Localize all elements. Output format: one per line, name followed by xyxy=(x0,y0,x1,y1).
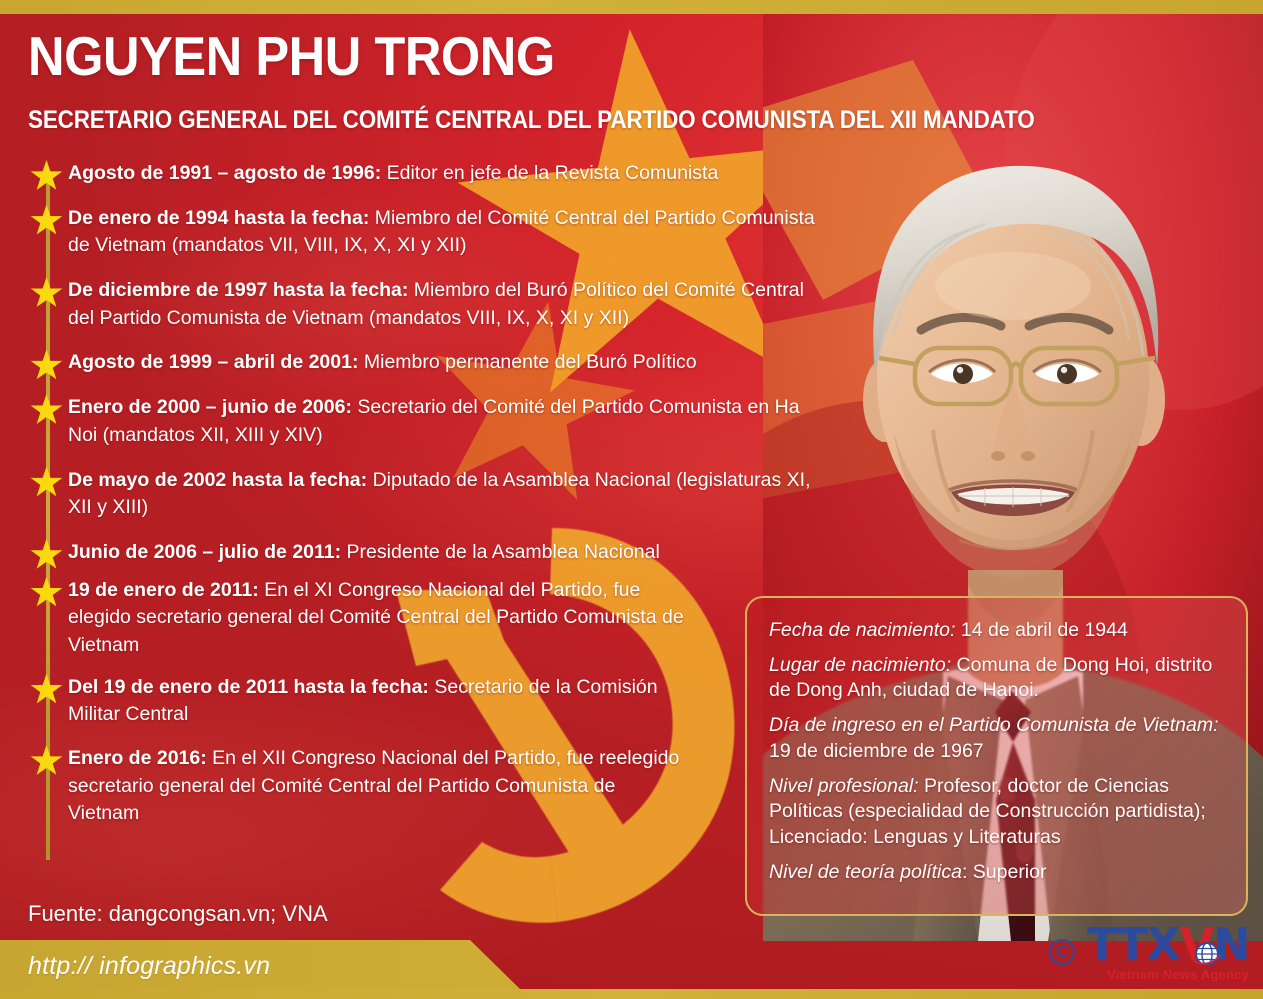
timeline-item: 19 de enero de 2011: En el XI Congreso N… xyxy=(0,577,700,660)
page-title: NGUYEN PHU TRONG xyxy=(28,29,555,84)
timeline-item-period: Agosto de 1991 – agosto de 1996: xyxy=(68,162,381,184)
copyright-icon: C xyxy=(1049,939,1075,965)
star-bullet-icon xyxy=(30,205,63,238)
timeline-item: Enero de 2016: En el XII Congreso Nacion… xyxy=(0,745,690,828)
timeline-item: De diciembre de 1997 hasta la fecha: Mie… xyxy=(0,277,820,332)
info-row-label: Nivel de teoría política xyxy=(769,861,962,883)
timeline-item-period: 19 de enero de 2011: xyxy=(68,579,259,601)
star-bullet-icon xyxy=(30,577,63,610)
page-subtitle: SECRETARIO GENERAL DEL COMITÉ CENTRAL DE… xyxy=(28,107,1035,135)
timeline-item: Agosto de 1991 – agosto de 1996: Editor … xyxy=(0,160,820,188)
timeline-item-period: Enero de 2000 – junio de 2006: xyxy=(68,396,352,418)
timeline-item-period: Agosto de 1999 – abril de 2001: xyxy=(68,351,358,373)
timeline-item: De mayo de 2002 hasta la fecha: Diputado… xyxy=(0,467,820,522)
info-row: Lugar de nacimiento: Comuna de Dong Hoi,… xyxy=(769,653,1224,704)
globe-icon xyxy=(1192,939,1222,969)
timeline-item-period: De mayo de 2002 hasta la fecha: xyxy=(68,469,367,491)
info-row-value: 19 de diciembre de 1967 xyxy=(769,740,984,762)
timeline-item-period: Junio de 2006 – julio de 2011: xyxy=(68,541,341,563)
info-row: Nivel de teoría política: Superior xyxy=(769,860,1224,886)
logo-letters-ttx: TTX xyxy=(1087,918,1180,971)
info-row-label: Día de ingreso en el Partido Comunista d… xyxy=(769,714,1218,736)
star-bullet-icon xyxy=(30,394,63,427)
star-bullet-icon xyxy=(30,745,63,778)
infographic-poster: NGUYEN PHU TRONG SECRETARIO GENERAL DEL … xyxy=(0,0,1263,999)
info-row: Día de ingreso en el Partido Comunista d… xyxy=(769,713,1224,764)
website-url[interactable]: http:// infographics.vn xyxy=(28,952,270,981)
timeline-item-period: Enero de 2016: xyxy=(68,747,207,769)
timeline-list: Agosto de 1991 – agosto de 1996: Editor … xyxy=(0,160,820,844)
info-row: Nivel profesional: Profesor, doctor de C… xyxy=(769,774,1224,851)
logo-letters: TTXVN xyxy=(1087,922,1249,967)
info-row-label: Fecha de nacimiento: xyxy=(769,619,955,641)
timeline-item: Del 19 de enero de 2011 hasta la fecha: … xyxy=(0,674,700,729)
star-bullet-icon xyxy=(30,674,63,707)
logo-wordmark: TTXVN Vietnam News Agency xyxy=(1087,922,1249,981)
ttxvn-logo[interactable]: C TTXVN Vietnam News Agency xyxy=(1049,922,1249,981)
info-row-value: : Superior xyxy=(962,861,1047,883)
timeline-item-description: Editor en jefe de la Revista Comunista xyxy=(381,162,718,184)
logo-tagline: Vietnam News Agency xyxy=(1087,968,1249,981)
star-bullet-icon xyxy=(30,277,63,310)
timeline-item: Agosto de 1999 – abril de 2001: Miembro … xyxy=(0,349,820,377)
timeline-item-period: De enero de 1994 hasta la fecha: xyxy=(68,207,369,229)
timeline-item-description: Presidente de la Asamblea Nacional xyxy=(341,541,660,563)
info-row-label: Lugar de nacimiento: xyxy=(769,654,951,676)
source-text: Fuente: dangcongsan.vn; VNA xyxy=(28,901,328,927)
timeline-item-description: Miembro permanente del Buró Político xyxy=(358,351,696,373)
star-bullet-icon xyxy=(30,467,63,500)
timeline-item: De enero de 1994 hasta la fecha: Miembro… xyxy=(0,205,820,260)
info-row-value: 14 de abril de 1944 xyxy=(955,619,1127,641)
timeline-item-period: Del 19 de enero de 2011 hasta la fecha: xyxy=(68,676,429,698)
timeline-item: Enero de 2000 – junio de 2006: Secretari… xyxy=(0,394,820,449)
biography-info-card: Fecha de nacimiento: 14 de abril de 1944… xyxy=(745,596,1248,916)
info-row: Fecha de nacimiento: 14 de abril de 1944 xyxy=(769,618,1224,644)
timeline-item: Junio de 2006 – julio de 2011: President… xyxy=(0,539,820,567)
info-row-label: Nivel profesional: xyxy=(769,775,919,797)
timeline-item-period: De diciembre de 1997 hasta la fecha: xyxy=(68,279,408,301)
bottom-gold-bar xyxy=(0,989,1263,999)
top-gold-bar xyxy=(0,0,1263,14)
